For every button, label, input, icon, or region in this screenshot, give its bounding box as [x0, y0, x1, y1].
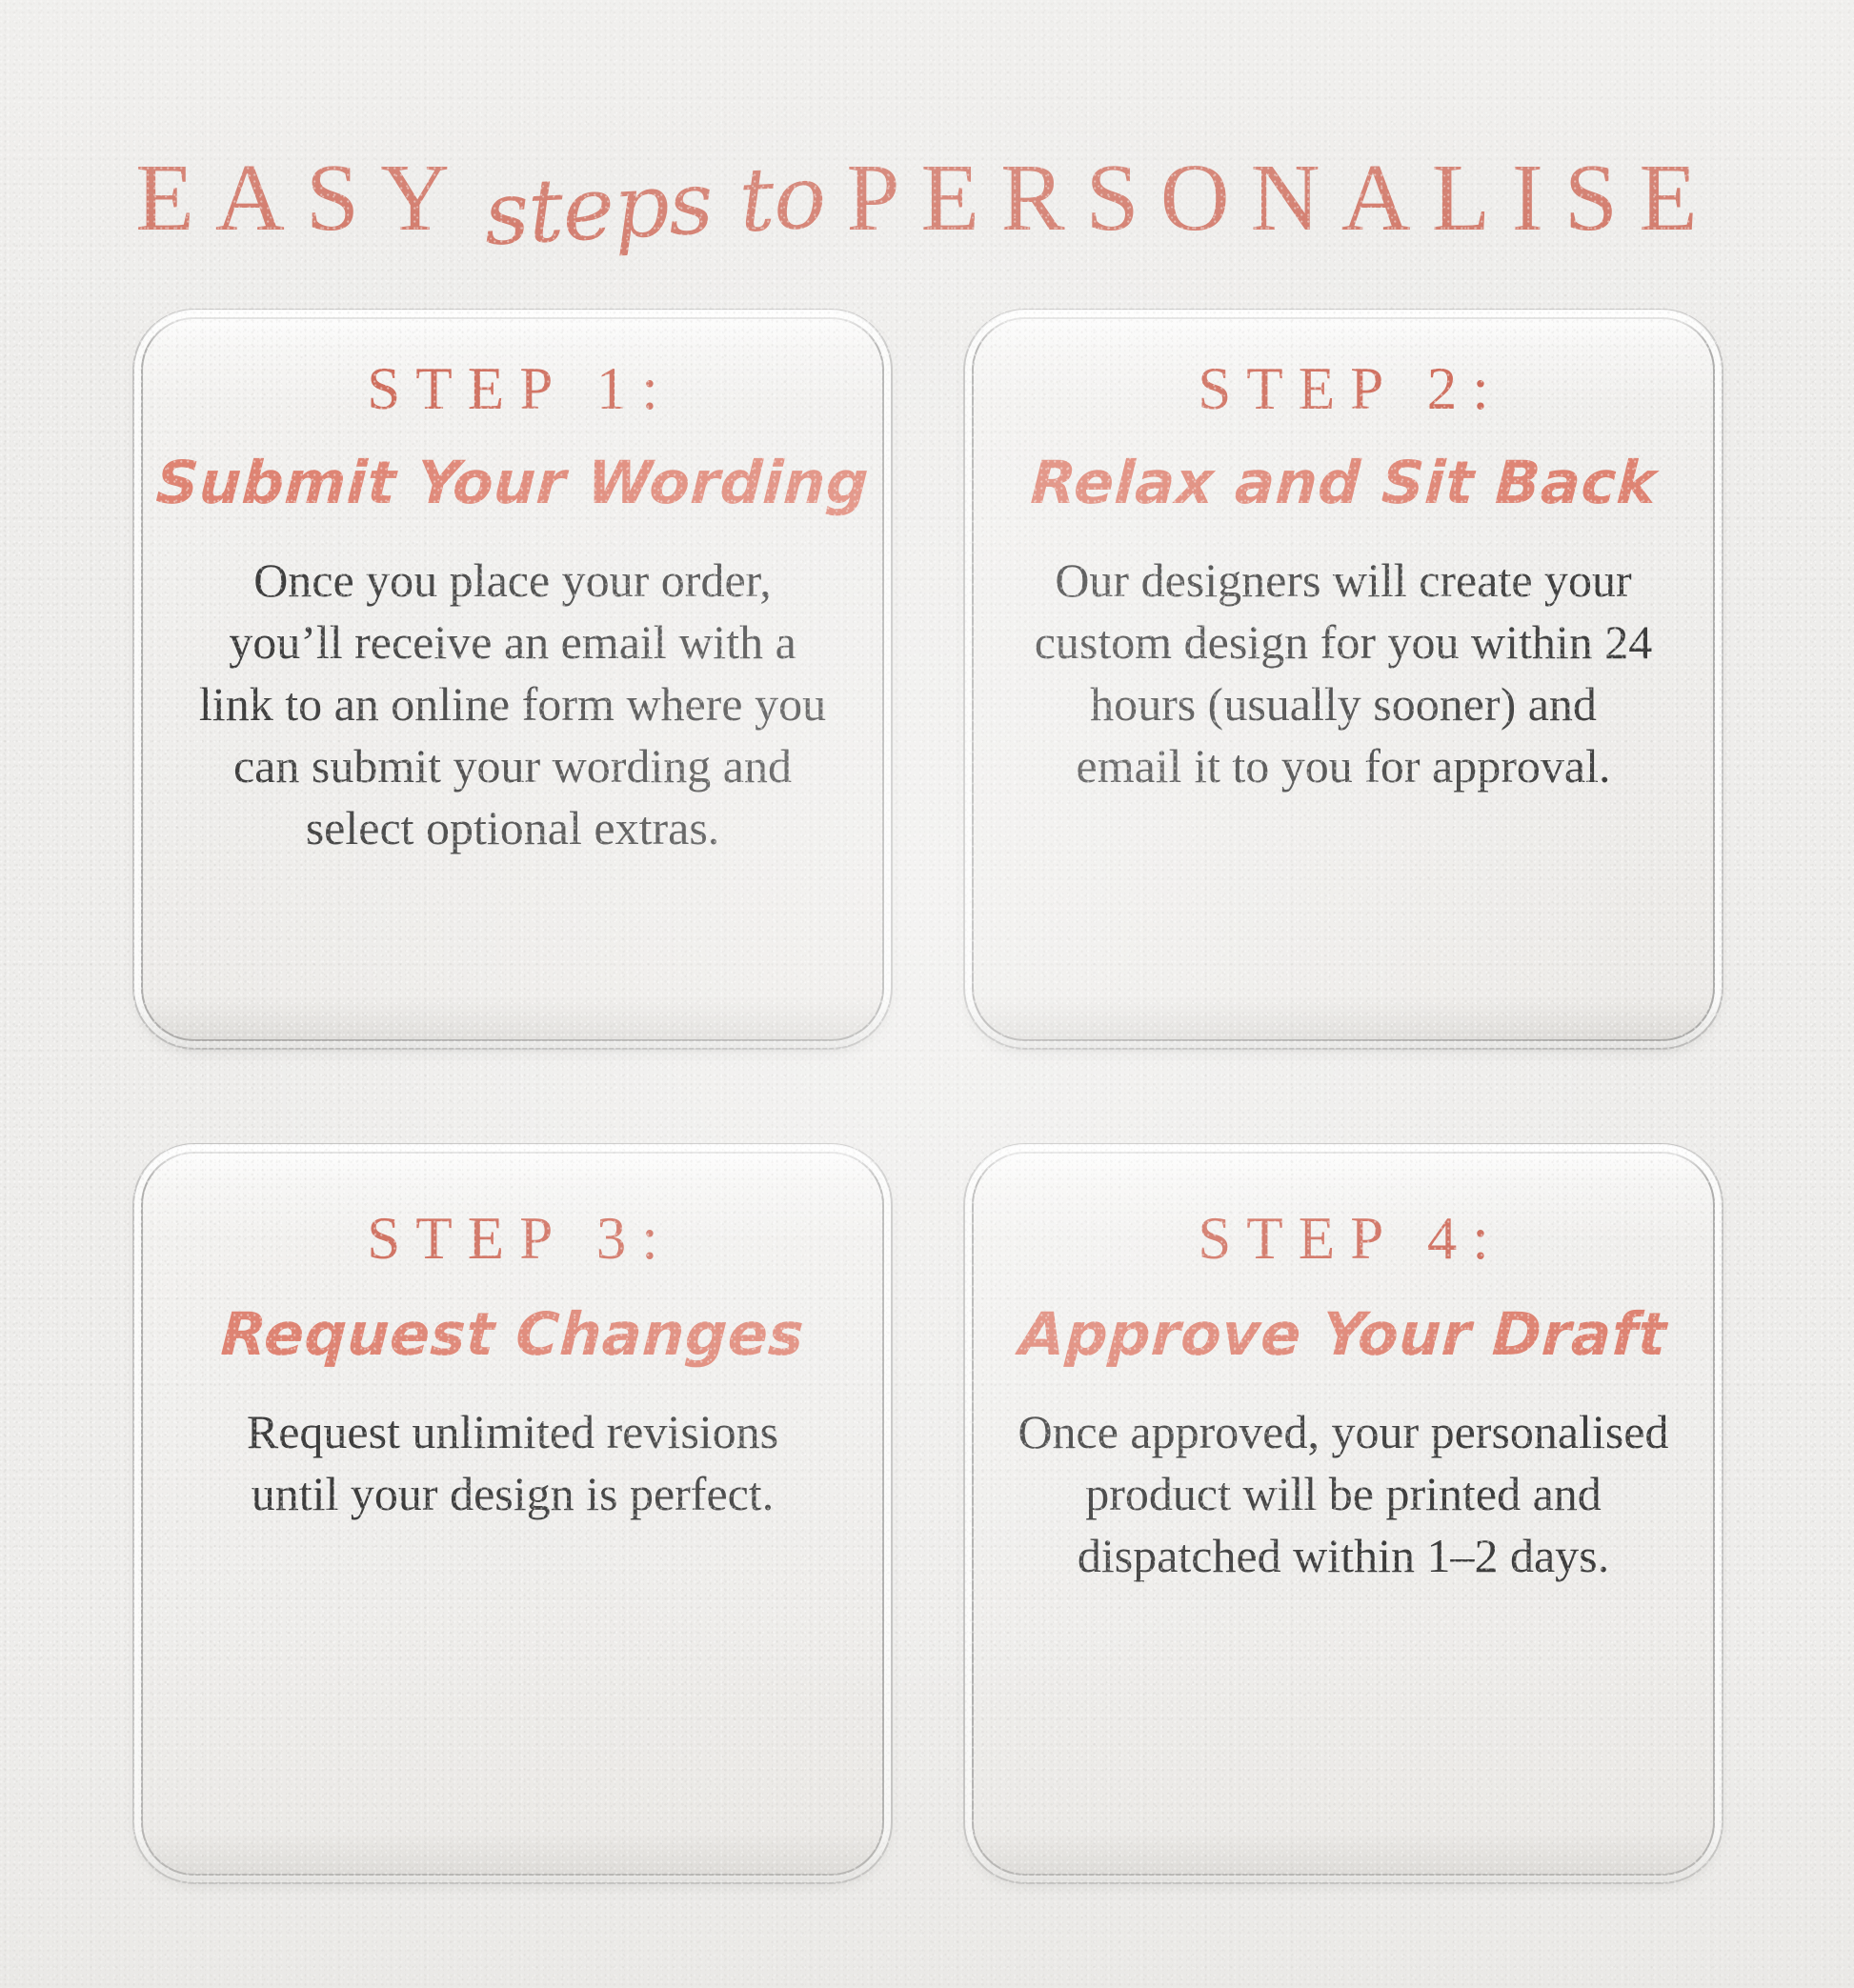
step-3-body: Request unlimited revisions until your d… — [227, 1401, 798, 1525]
step-2-title: Relax and Sit Back — [1029, 452, 1658, 515]
step-card-2-content: STEP 2: Relax and Sit Back Our designers… — [1010, 317, 1677, 845]
personalise-steps-page: EASYsteps toPERSONALISE STEP 1: Submit Y… — [0, 0, 1854, 1988]
step-3-label: STEP 3: — [352, 1209, 673, 1269]
page-title-script-word: steps to — [469, 152, 849, 260]
step-card-2: STEP 2: Relax and Sit Back Our designers… — [972, 317, 1715, 1041]
step-4-title: Approve Your Draft — [1018, 1303, 1669, 1367]
page-title: EASYsteps toPERSONALISE — [0, 150, 1854, 246]
step-4-body: Once approved, your personalised product… — [1015, 1401, 1672, 1587]
steps-grid: STEP 1: Submit Your Wording Once you pla… — [141, 317, 1715, 1876]
step-card-1-content: STEP 1: Submit Your Wording Once you pla… — [179, 317, 846, 907]
page-title-part-one: EASY — [135, 144, 471, 251]
step-1-label: STEP 1: — [352, 359, 673, 419]
step-4-label: STEP 4: — [1182, 1209, 1503, 1269]
step-1-body: Once you place your order, you’ll receiv… — [198, 550, 827, 859]
step-2-body: Our designers will create your custom de… — [1034, 550, 1653, 797]
step-3-title: Request Changes — [219, 1303, 805, 1367]
step-card-3: STEP 3: Request Changes Request unlimite… — [141, 1152, 884, 1876]
step-card-3-content: STEP 3: Request Changes Request unlimite… — [179, 1152, 846, 1573]
step-1-title: Submit Your Wording — [154, 452, 870, 515]
step-card-4-content: STEP 4: Approve Your Draft Once approved… — [1010, 1152, 1677, 1635]
step-card-4: STEP 4: Approve Your Draft Once approved… — [972, 1152, 1715, 1876]
page-title-part-two: PERSONALISE — [846, 144, 1718, 251]
step-card-1: STEP 1: Submit Your Wording Once you pla… — [141, 317, 884, 1041]
step-2-label: STEP 2: — [1182, 359, 1503, 419]
